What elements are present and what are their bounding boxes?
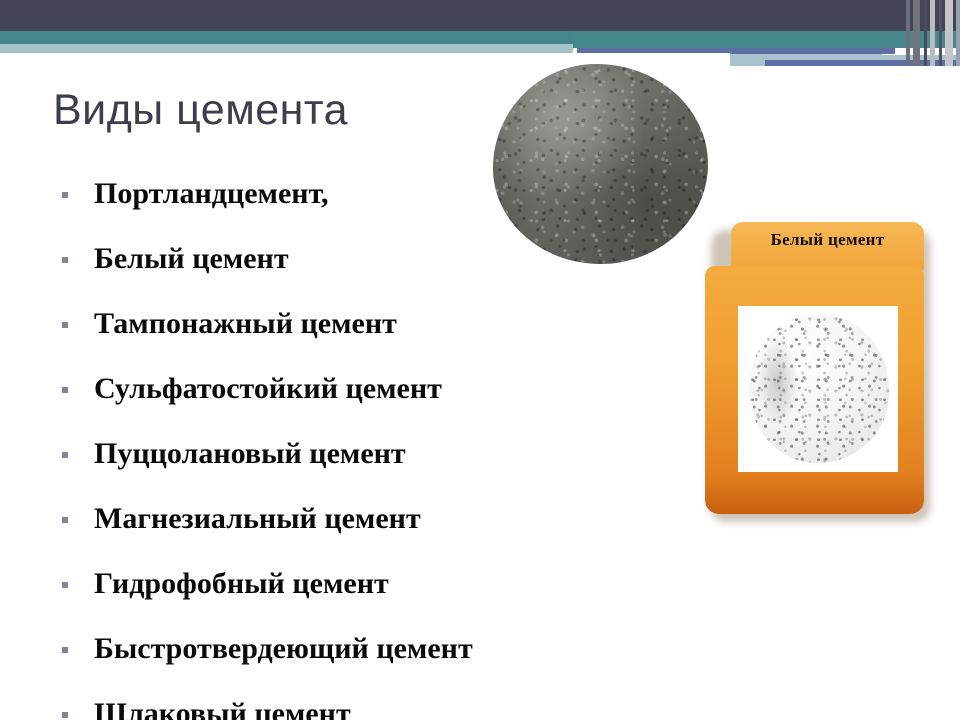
list-item-label: Белый цемент [94,241,289,277]
slide-canvas: Виды цемента Портландцемент, Белый цемен… [0,0,960,720]
page-title: Виды цемента [53,86,348,135]
header-band-light-teal [0,44,573,53]
header-vertical-stripe-3 [924,0,927,66]
white-cement-pile-image [749,315,889,463]
header-vertical-stripe-4 [930,0,935,66]
list-item-label: Портландцемент, [94,176,329,212]
header-band-dark [0,0,960,31]
header-vertical-stripe-5 [939,0,942,66]
white-cement-photo [738,306,898,472]
bullet-marker-icon [62,582,68,588]
list-item: Пуццолановый цемент [62,436,682,501]
grey-cement-pile-image [493,64,708,264]
card-title-label: Белый цемент [731,230,924,250]
list-item-label: Пуццолановый цемент [94,436,406,472]
bullet-marker-icon [62,452,68,458]
header-vertical-stripe-7 [956,0,960,66]
list-item-label: Сульфатостойкий цемент [94,371,442,407]
bullet-marker-icon [62,712,68,718]
bullet-marker-icon [62,257,68,263]
list-item: Сульфатостойкий цемент [62,371,682,436]
header-vertical-stripe-6 [945,0,953,66]
header-vertical-stripe-1 [906,0,910,66]
header-vertical-stripe-2 [913,0,920,66]
bullet-marker-icon [62,387,68,393]
bullet-marker-icon [62,192,68,198]
list-item-label: Гидрофобный цемент [94,566,389,602]
list-item-label: Магнезиальный цемент [94,501,421,537]
list-item: Магнезиальный цемент [62,501,682,566]
list-item: Тампонажный цемент [62,306,682,371]
list-item: Гидрофобный цемент [62,566,682,631]
list-item: Шлаковый цемент [62,696,682,720]
white-cement-card: Белый цемент [705,222,924,514]
list-item-label: Тампонажный цемент [94,306,397,342]
bullet-marker-icon [62,322,68,328]
bullet-marker-icon [62,647,68,653]
bullet-marker-icon [62,517,68,523]
list-item: Быстротвердеющий цемент [62,631,682,696]
header-band-teal-right [573,31,960,48]
grey-cement-photo [470,53,730,275]
list-item-label: Шлаковый цемент [94,696,351,720]
list-item-label: Быстротвердеющий цемент [94,631,473,667]
